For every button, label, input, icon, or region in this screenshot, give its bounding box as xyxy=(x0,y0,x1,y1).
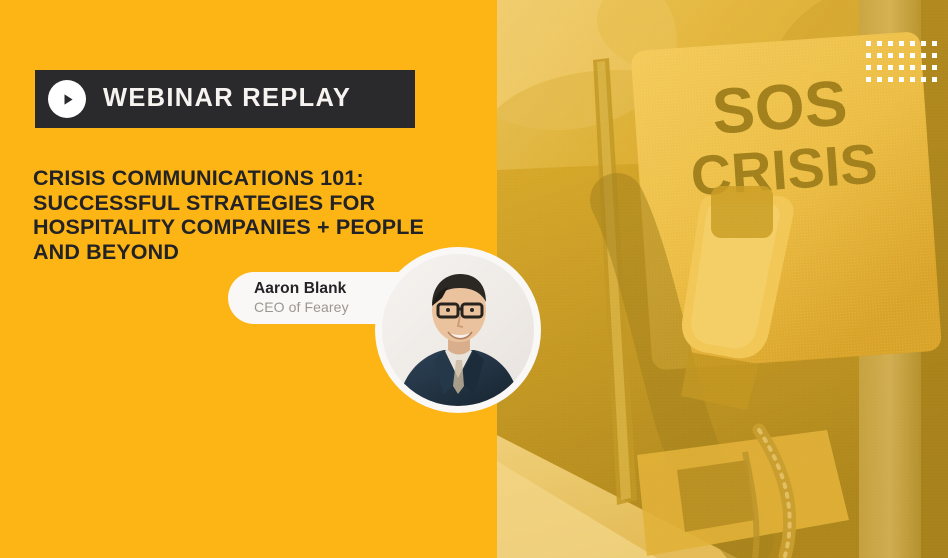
avatar-image xyxy=(382,254,534,406)
play-icon xyxy=(48,80,86,118)
avatar xyxy=(375,247,541,413)
page-title: CRISIS COMMUNICATIONS 101: SUCCESSFUL ST… xyxy=(33,166,453,264)
webinar-replay-banner[interactable]: WEBINAR REPLAY xyxy=(35,70,415,128)
dot-grid-decoration xyxy=(866,41,943,89)
webinar-replay-label: WEBINAR REPLAY xyxy=(103,86,351,112)
webinar-promo-card: SOS CRISIS xyxy=(0,0,948,558)
